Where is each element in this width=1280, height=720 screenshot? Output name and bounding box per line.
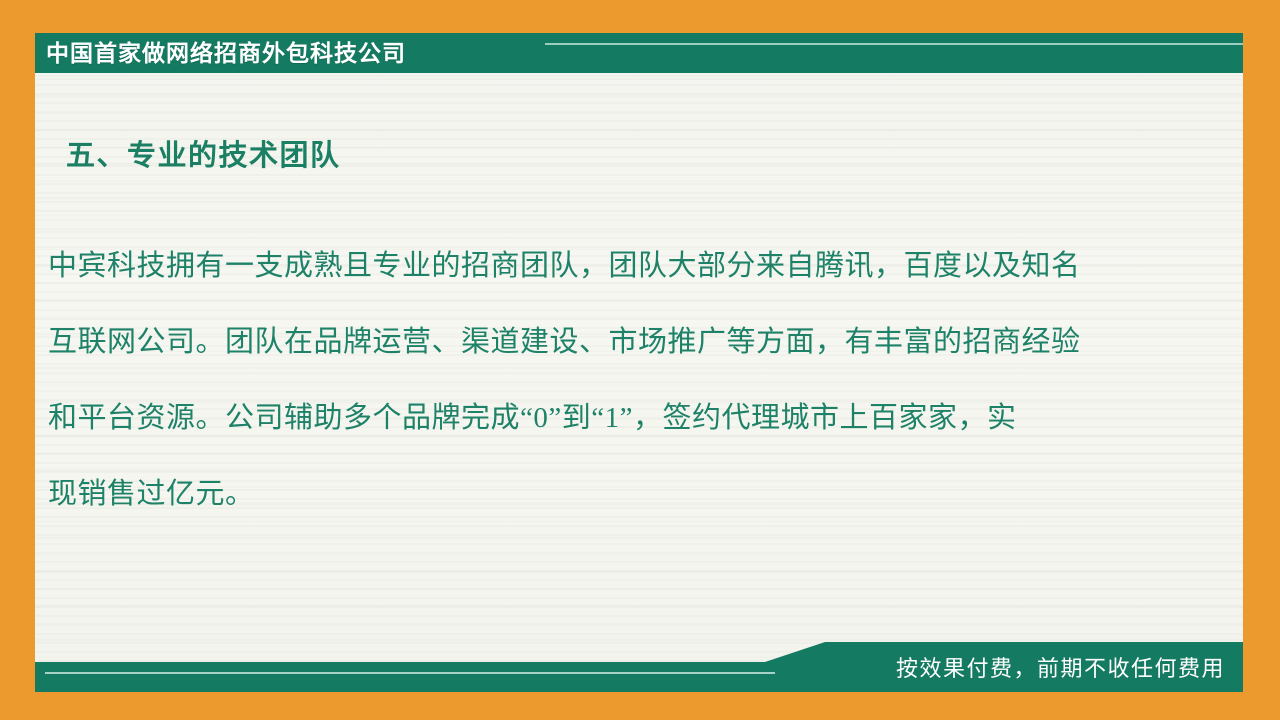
header-divider-line: [545, 43, 1243, 45]
body-line: 现销售过亿元。: [48, 456, 1183, 532]
footer-divider-line: [45, 672, 775, 674]
body-paragraph: 中宾科技拥有一支成熟且专业的招商团队，团队大部分来自腾讯，百度以及知名 互联网公…: [48, 228, 1183, 532]
slide-canvas: 中国首家做网络招商外包科技公司 五、专业的技术团队 中宾科技拥有一支成熟且专业的…: [0, 0, 1280, 720]
header-title: 中国首家做网络招商外包科技公司: [46, 36, 406, 70]
body-line: 中宾科技拥有一支成熟且专业的招商团队，团队大部分来自腾讯，百度以及知名: [48, 228, 1183, 304]
section-heading: 五、专业的技术团队: [66, 136, 341, 176]
footer-tagline: 按效果付费，前期不收任何费用: [896, 654, 1225, 684]
body-line: 和平台资源。公司辅助多个品牌完成“0”到“1”，签约代理城市上百家家，实: [48, 380, 1183, 456]
body-line: 互联网公司。团队在品牌运营、渠道建设、市场推广等方面，有丰富的招商经验: [48, 304, 1183, 380]
